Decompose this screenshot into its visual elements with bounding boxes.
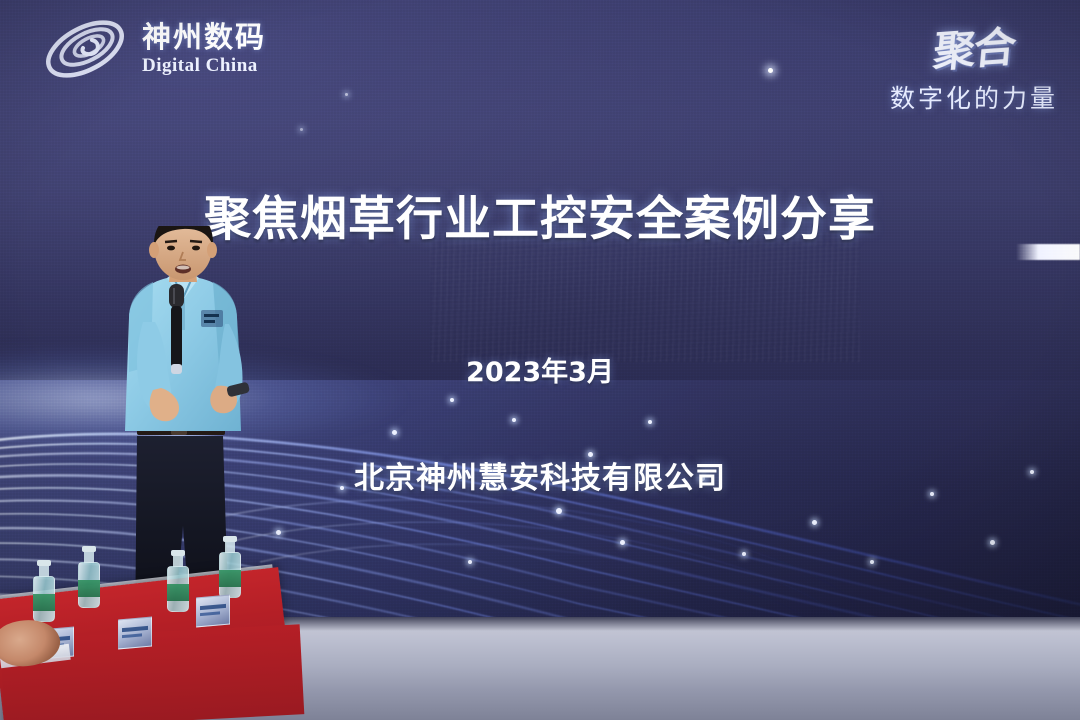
brand-name-en: Digital China — [142, 56, 266, 75]
swirl-icon — [42, 18, 128, 80]
digital-china-logo: 神州数码 Digital China — [42, 18, 266, 80]
event-logo: 聚合 数字化的力量 — [890, 16, 1058, 115]
conference-photo: 神州数码 Digital China 聚合 数字化的力量 聚焦烟草行业工控安全案… — [0, 0, 1080, 720]
event-logo-subtitle: 数字化的力量 — [890, 79, 1058, 115]
event-logo-calligraphy: 聚合 — [931, 13, 1017, 79]
particle-star — [768, 68, 773, 73]
name-card — [118, 617, 152, 650]
particle-dot — [345, 93, 348, 96]
shirt-logo — [201, 310, 223, 327]
particle-dot — [300, 128, 303, 131]
brand-name-cn: 神州数码 — [142, 23, 266, 52]
name-card — [196, 595, 230, 628]
microphone-icon — [169, 284, 184, 374]
